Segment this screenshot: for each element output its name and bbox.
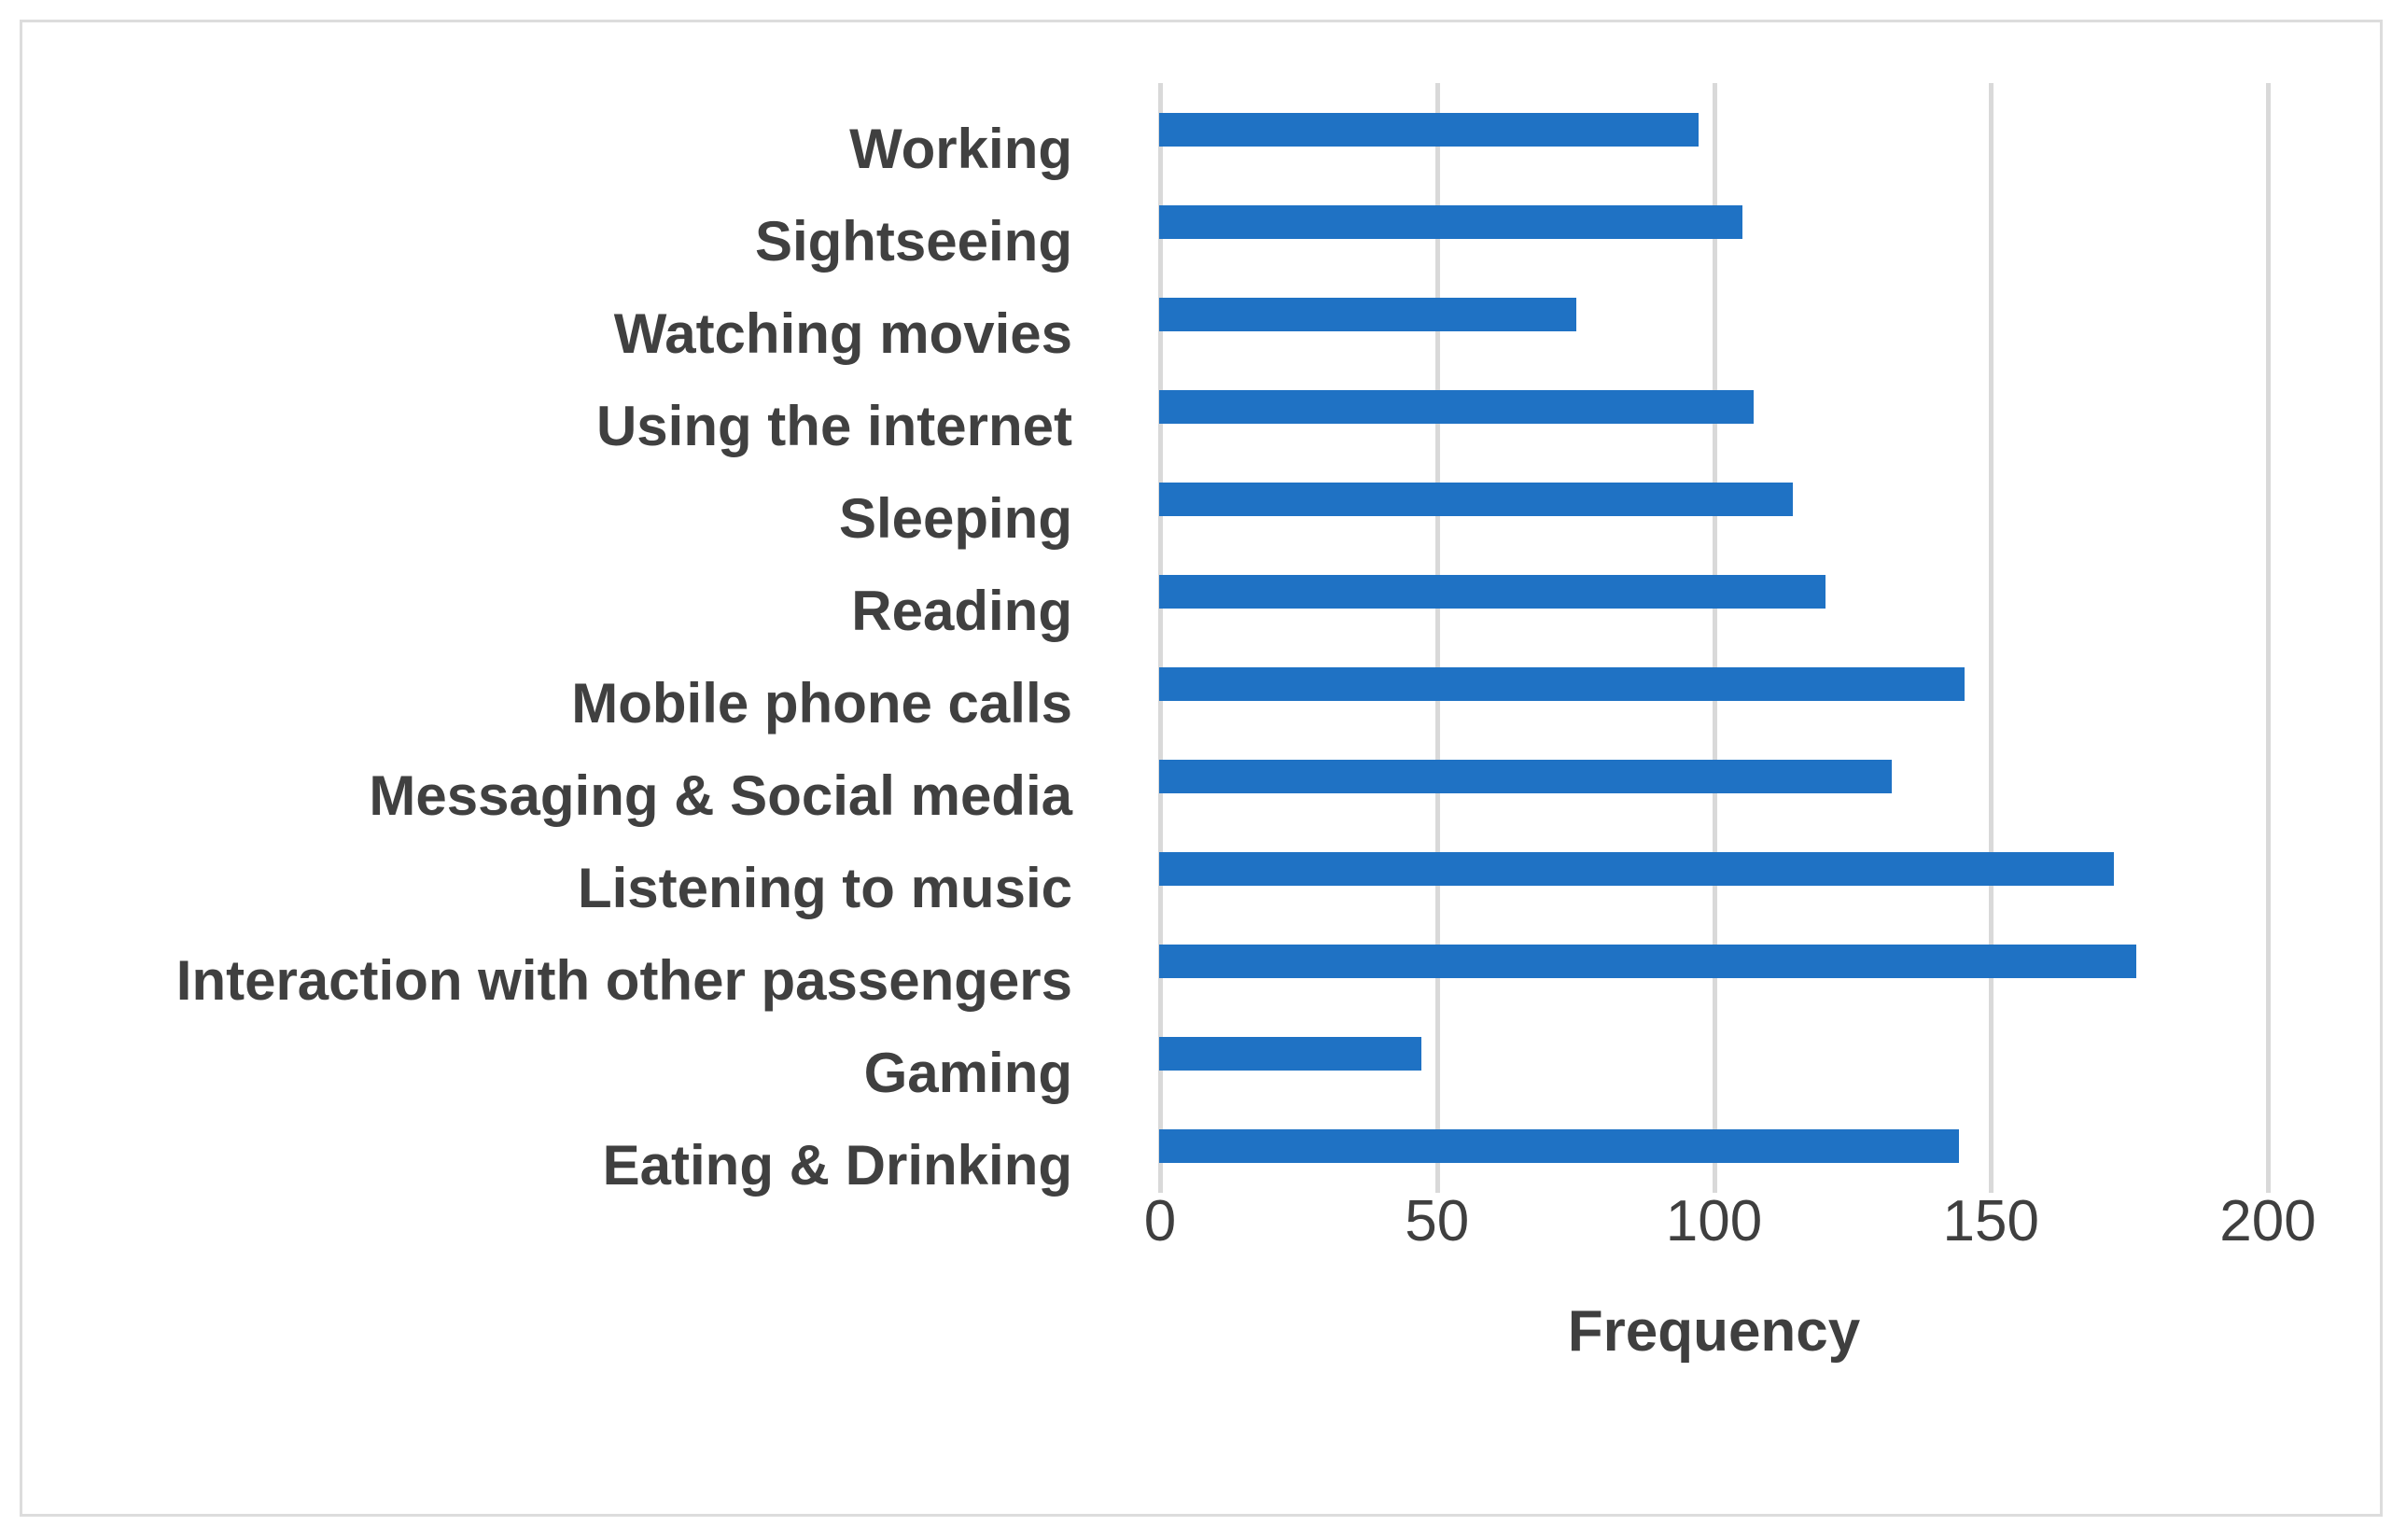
category-label: Interaction with other passengers [176,953,1072,1009]
category-label: Using the internet [596,399,1072,455]
chart-frame: WorkingSightseeingWatching moviesUsing t… [20,20,2383,1517]
bar-series [1160,83,2268,1193]
category-label-cell: Interaction with other passengers [22,935,1104,1028]
category-label-cell: Eating & Drinking [22,1120,1104,1212]
category-label-cell: Sightseeing [22,195,1104,287]
bar[interactable] [1160,206,1742,238]
bar-row [1160,268,2268,360]
plot-area [1160,83,2268,1193]
category-axis: WorkingSightseeingWatching moviesUsing t… [22,103,1104,1212]
x-axis-title: Frequency [1160,1303,2268,1361]
category-label: Working [849,121,1072,177]
bar-row [1160,1008,2268,1100]
category-label: Eating & Drinking [603,1138,1072,1194]
category-label: Listening to music [578,861,1072,917]
bar-row [1160,823,2268,916]
bar[interactable] [1160,483,1792,515]
x-axis-tick-label: 100 [1666,1193,1762,1251]
category-label-cell: Working [22,103,1104,195]
bar[interactable] [1160,853,2113,885]
category-label-cell: Using the internet [22,380,1104,472]
category-label: Watching movies [614,306,1072,362]
bar-row [1160,1100,2268,1193]
bar-row [1160,545,2268,637]
category-label: Sightseeing [755,214,1072,270]
x-axis-tick-label: 150 [1943,1193,2039,1251]
bar[interactable] [1160,299,1575,330]
bar-row [1160,731,2268,823]
bar[interactable] [1160,1130,1958,1162]
bar-row [1160,360,2268,453]
bar[interactable] [1160,576,1825,608]
bar-row [1160,916,2268,1008]
category-label-cell: Listening to music [22,843,1104,935]
bar[interactable] [1160,391,1753,423]
bar-row [1160,453,2268,545]
bar[interactable] [1160,761,1891,792]
category-label: Messaging & Social media [369,768,1072,824]
x-axis-tick-label: 0 [1144,1193,1176,1251]
category-label: Reading [851,583,1072,639]
bar[interactable] [1160,945,2135,977]
chart-plot-wrapper: WorkingSightseeingWatching moviesUsing t… [22,22,2380,1514]
value-axis: 050100150200 [1160,1193,2268,1277]
category-label: Mobile phone calls [571,676,1072,732]
x-axis-tick-label: 200 [2219,1193,2315,1251]
bar-row [1160,637,2268,730]
bar[interactable] [1160,1038,1420,1070]
category-label: Gaming [864,1045,1072,1101]
bar-row [1160,83,2268,175]
category-label-cell: Mobile phone calls [22,657,1104,749]
bar[interactable] [1160,114,1698,146]
category-label-cell: Messaging & Social media [22,750,1104,843]
category-label: Sleeping [839,491,1072,547]
category-label-cell: Sleeping [22,472,1104,565]
category-label-cell: Gaming [22,1028,1104,1120]
category-label-cell: Reading [22,565,1104,657]
bar-row [1160,175,2268,268]
category-label-cell: Watching movies [22,287,1104,380]
x-axis-tick-label: 50 [1405,1193,1469,1251]
bar[interactable] [1160,668,1964,700]
